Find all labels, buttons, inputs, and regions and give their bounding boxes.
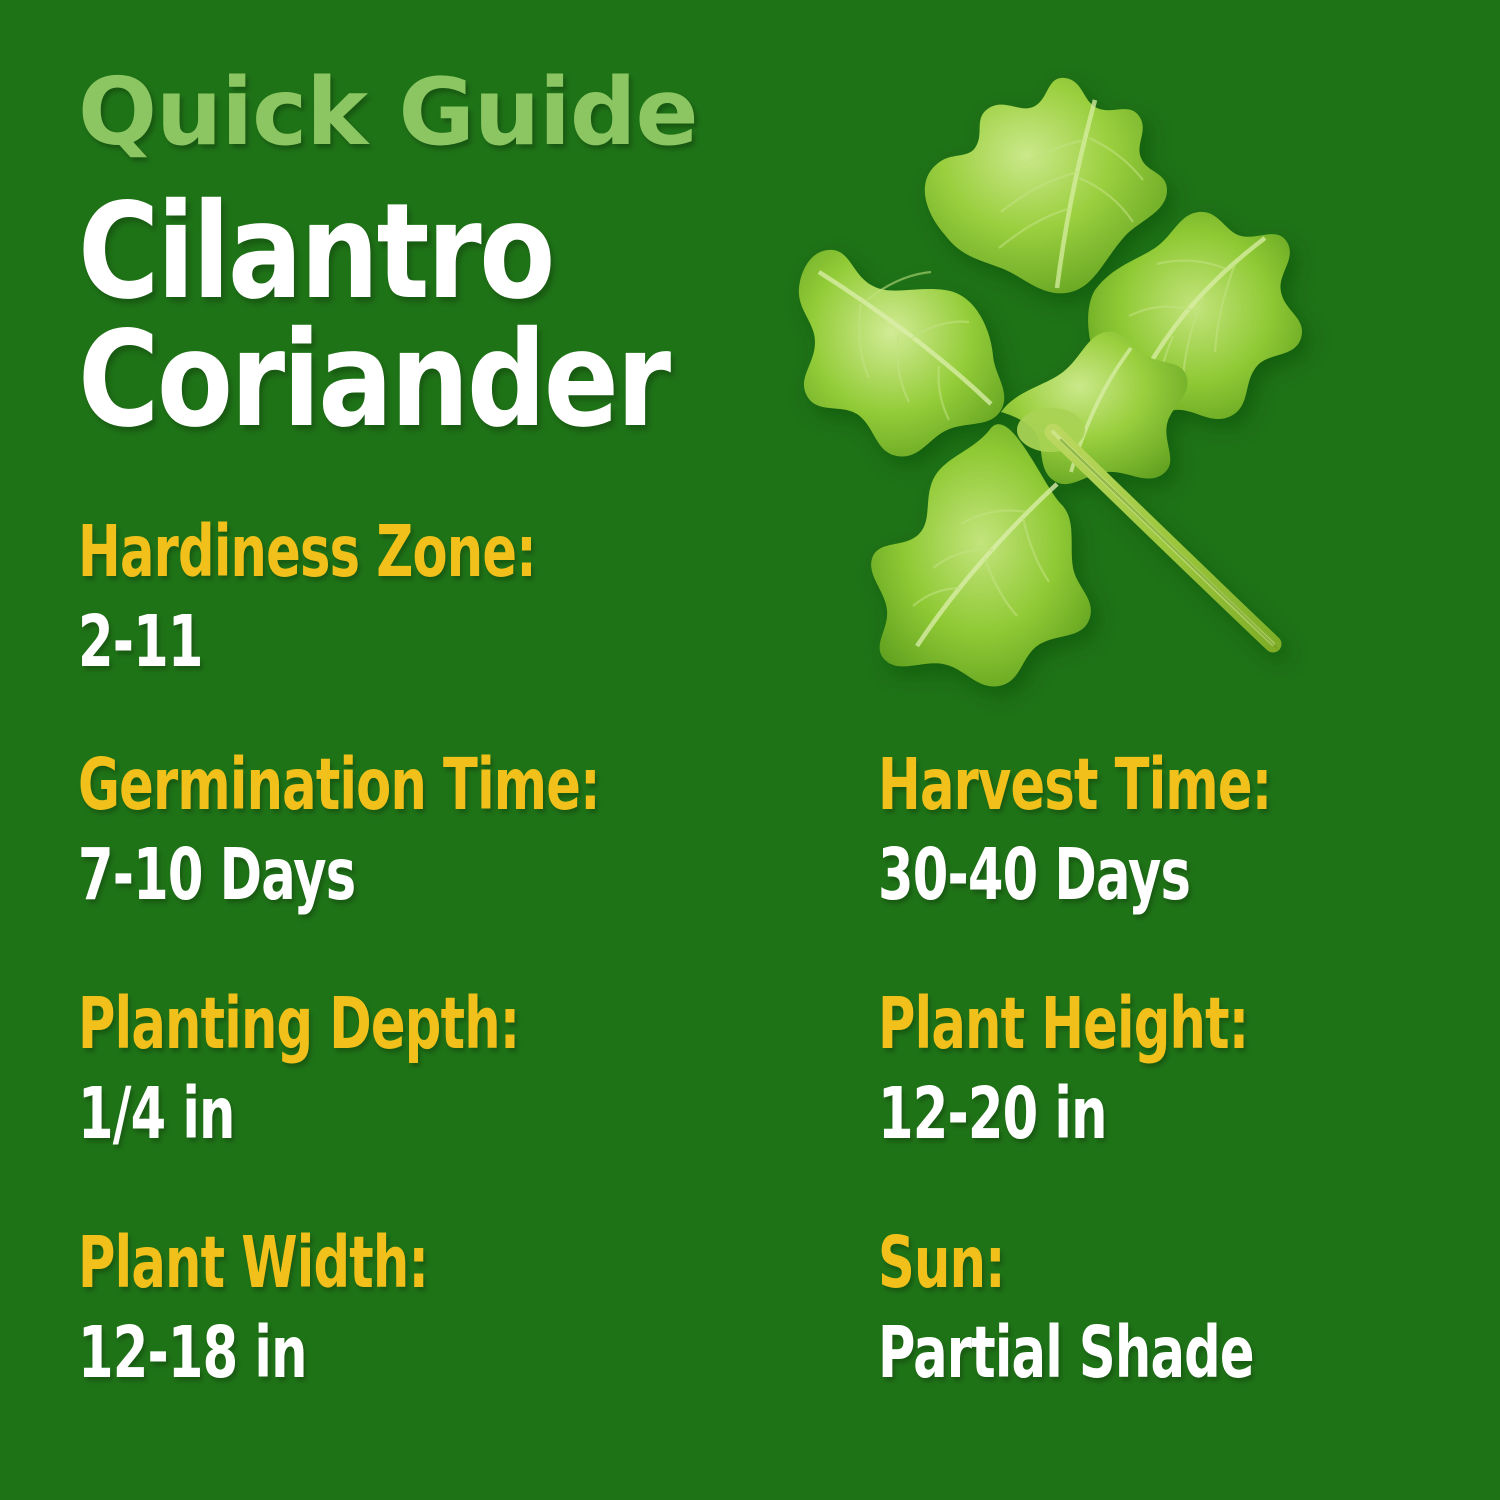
row-spacer xyxy=(78,910,1458,988)
page-title-line-2: Coriander xyxy=(78,316,669,444)
spec-value: 12-18 in xyxy=(78,1317,718,1388)
spec-row: Germination Time: 7-10 Days Harvest Time… xyxy=(78,749,1458,910)
spec-cell-plant-width: Plant Width: 12-18 in xyxy=(78,1227,878,1388)
spec-cell-plant-height: Plant Height: 12-20 in xyxy=(878,988,1458,1149)
spec-label: Plant Width: xyxy=(78,1227,718,1298)
quick-guide-eyebrow: Quick Guide xyxy=(78,66,698,159)
spec-label: Germination Time: xyxy=(78,749,718,820)
spec-cell-germination-time: Germination Time: 7-10 Days xyxy=(78,749,878,910)
spec-cell-planting-depth: Planting Depth: 1/4 in xyxy=(78,988,878,1149)
spec-grid: Hardiness Zone: 2-11 Germination Time: 7… xyxy=(78,516,1458,1388)
spec-label: Harvest Time: xyxy=(878,749,1342,820)
spec-row: Hardiness Zone: 2-11 xyxy=(78,516,1458,677)
quick-guide-card: Quick Guide Cilantro Coriander xyxy=(0,0,1500,1500)
spec-label: Planting Depth: xyxy=(78,988,718,1059)
spec-row: Planting Depth: 1/4 in Plant Height: 12-… xyxy=(78,988,1458,1149)
spec-label: Sun: xyxy=(878,1227,1342,1298)
spec-value: 1/4 in xyxy=(78,1078,718,1149)
spec-cell-harvest-time: Harvest Time: 30-40 Days xyxy=(878,749,1458,910)
row-spacer xyxy=(78,677,1458,749)
spec-row: Plant Width: 12-18 in Sun: Partial Shade xyxy=(78,1227,1458,1388)
spec-value: 30-40 Days xyxy=(878,839,1342,910)
spec-label: Hardiness Zone: xyxy=(78,516,718,587)
page-title: Cilantro Coriander xyxy=(78,188,669,444)
spec-value: 7-10 Days xyxy=(78,839,718,910)
page-title-line-1: Cilantro xyxy=(78,188,669,316)
row-spacer xyxy=(78,1149,1458,1227)
spec-cell-sun: Sun: Partial Shade xyxy=(878,1227,1458,1388)
spec-value: Partial Shade xyxy=(878,1317,1342,1388)
spec-value: 2-11 xyxy=(78,606,718,677)
spec-cell-hardiness-zone: Hardiness Zone: 2-11 xyxy=(78,516,878,677)
spec-value: 12-20 in xyxy=(878,1078,1342,1149)
spec-label: Plant Height: xyxy=(878,988,1342,1059)
